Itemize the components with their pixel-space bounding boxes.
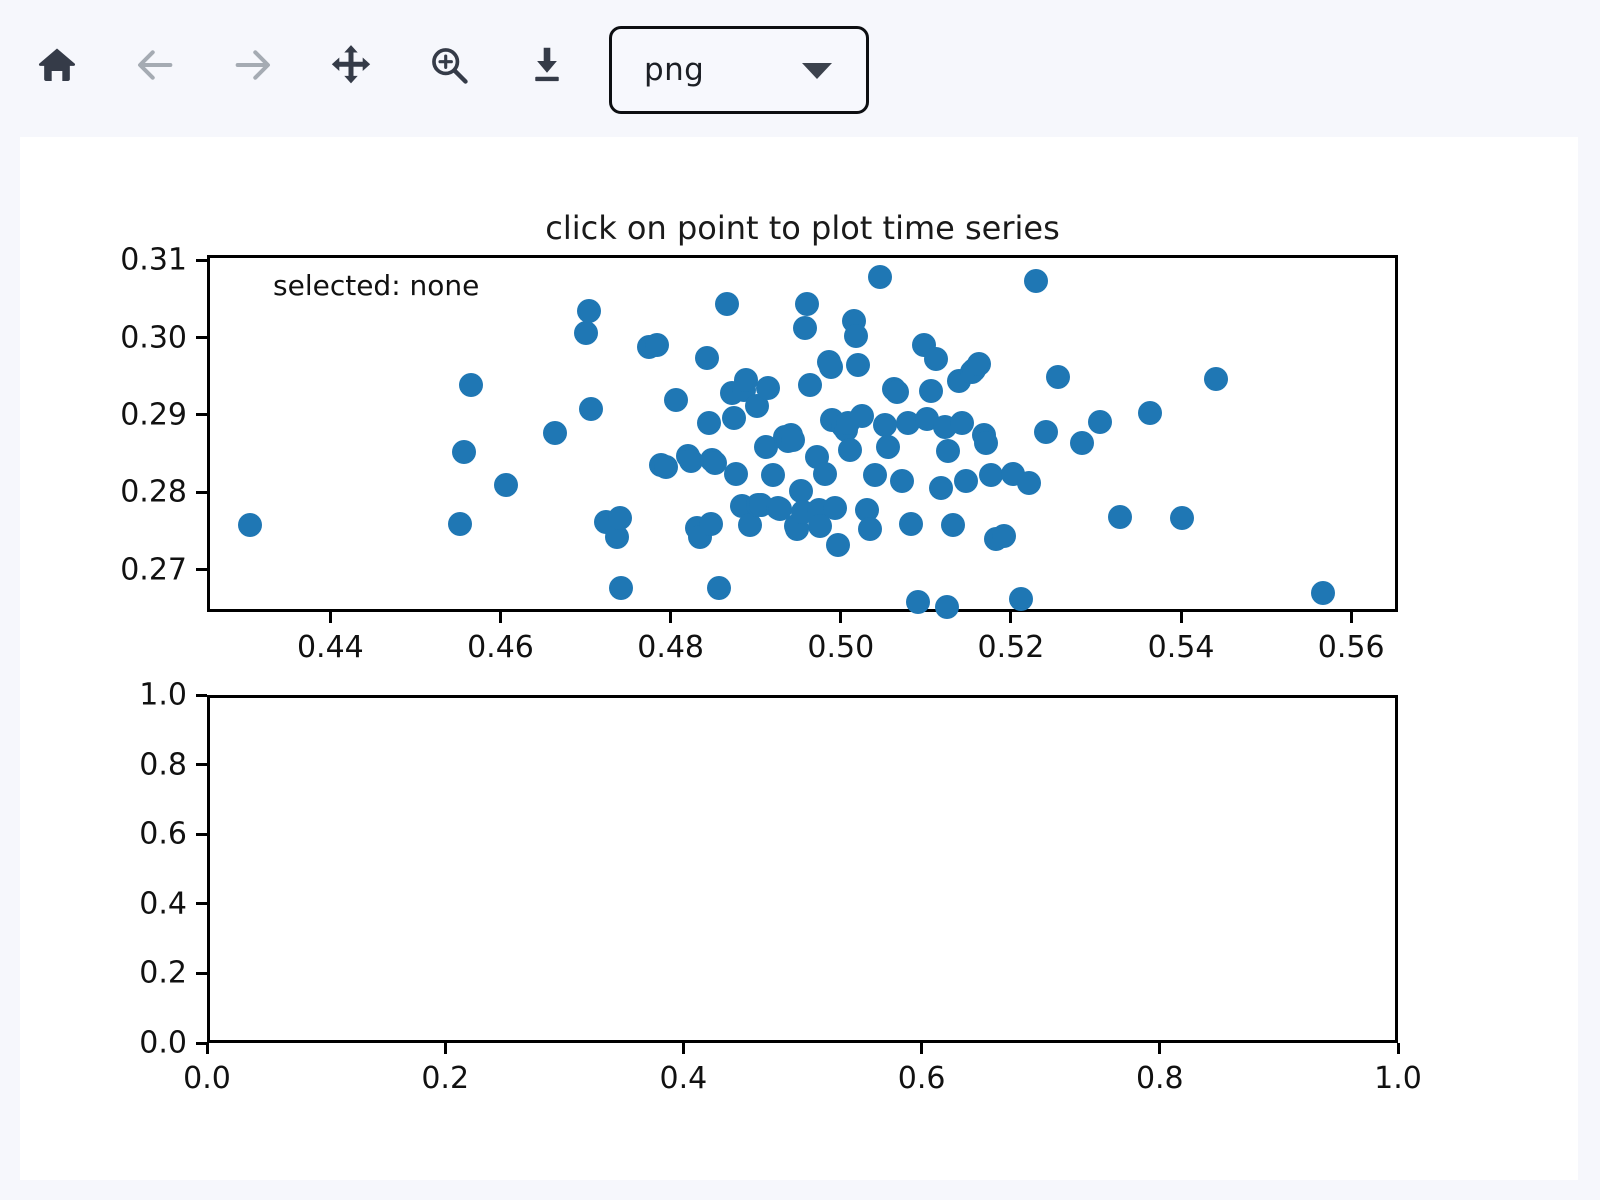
- scatter-point[interactable]: [1088, 410, 1112, 434]
- scatter-point[interactable]: [452, 440, 476, 464]
- scatter-point[interactable]: [715, 292, 739, 316]
- scatter-point[interactable]: [697, 411, 721, 435]
- download-icon: [525, 43, 569, 87]
- x-tick-mark: [1009, 612, 1012, 623]
- scatter-point[interactable]: [858, 517, 882, 541]
- scatter-point[interactable]: [885, 380, 909, 404]
- y-tick-label: 0.29: [22, 397, 187, 432]
- x-tick-mark: [499, 612, 502, 623]
- scatter-point[interactable]: [795, 292, 819, 316]
- pan-button[interactable]: [324, 38, 378, 92]
- y-tick-label: 1.0: [22, 678, 187, 713]
- y-tick-label: 0.8: [22, 747, 187, 782]
- scatter-point[interactable]: [876, 435, 900, 459]
- move-icon: [328, 42, 374, 88]
- y-tick-mark: [196, 972, 207, 975]
- scatter-point[interactable]: [793, 316, 817, 340]
- y-tick-mark: [196, 902, 207, 905]
- y-tick-mark: [196, 491, 207, 494]
- scatter-point[interactable]: [695, 346, 719, 370]
- scatter-point[interactable]: [992, 524, 1016, 548]
- scatter-point[interactable]: [863, 463, 887, 487]
- download-format-select[interactable]: png: [609, 26, 869, 114]
- scatter-point[interactable]: [929, 476, 953, 500]
- x-tick-mark: [682, 1043, 685, 1054]
- scatter-point[interactable]: [724, 462, 748, 486]
- scatter-point[interactable]: [873, 413, 897, 437]
- x-tick-mark: [206, 1043, 209, 1054]
- scatter-point[interactable]: [1024, 269, 1048, 293]
- matplotlib-toolbar: png: [0, 0, 1600, 137]
- x-tick-mark: [1180, 612, 1183, 623]
- scatter-point[interactable]: [1009, 587, 1033, 611]
- y-tick-label: 0.28: [22, 475, 187, 510]
- x-tick-mark: [839, 612, 842, 623]
- x-tick-mark: [1158, 1043, 1161, 1054]
- chevron-down-icon: [802, 63, 832, 79]
- y-tick-label: 0.0: [22, 1026, 187, 1061]
- scatter-point[interactable]: [1046, 365, 1070, 389]
- home-icon: [35, 43, 79, 87]
- scatter-point[interactable]: [459, 373, 483, 397]
- x-tick-label: 0.52: [978, 630, 1045, 665]
- y-tick-mark: [196, 568, 207, 571]
- scatter-point[interactable]: [919, 379, 943, 403]
- y-tick-mark: [196, 413, 207, 416]
- scatter-point[interactable]: [890, 469, 914, 493]
- x-tick-mark: [1350, 612, 1353, 623]
- zoom-button[interactable]: [422, 38, 476, 92]
- scatter-point[interactable]: [1204, 367, 1228, 391]
- download-format-value: png: [644, 29, 704, 111]
- y-tick-label: 0.4: [22, 886, 187, 921]
- scatter-point[interactable]: [722, 406, 746, 430]
- scatter-point[interactable]: [1070, 431, 1094, 455]
- scatter-point[interactable]: [868, 265, 892, 289]
- y-tick-label: 0.2: [22, 956, 187, 991]
- x-tick-label: 0.48: [637, 630, 704, 665]
- scatter-point[interactable]: [826, 533, 850, 557]
- download-button[interactable]: [520, 38, 574, 92]
- x-tick-mark: [444, 1043, 447, 1054]
- y-tick-mark: [196, 833, 207, 836]
- scatter-point[interactable]: [664, 388, 688, 412]
- x-tick-label: 0.6: [898, 1061, 946, 1096]
- x-tick-mark: [669, 612, 672, 623]
- x-tick-label: 0.54: [1148, 630, 1215, 665]
- scatter-point[interactable]: [238, 513, 262, 537]
- figure-canvas[interactable]: click on point to plot time series selec…: [20, 137, 1578, 1180]
- y-tick-label: 0.30: [22, 320, 187, 355]
- y-tick-mark: [196, 336, 207, 339]
- scatter-point[interactable]: [935, 595, 959, 619]
- scatter-point[interactable]: [654, 455, 678, 479]
- arrow-left-icon: [132, 42, 178, 88]
- y-tick-label: 0.6: [22, 817, 187, 852]
- scatter-point[interactable]: [734, 368, 758, 392]
- x-tick-label: 0.44: [297, 630, 364, 665]
- scatter-point[interactable]: [1170, 506, 1194, 530]
- scatter-point[interactable]: [1017, 471, 1041, 495]
- scatter-point[interactable]: [850, 404, 874, 428]
- magnifier-plus-icon: [427, 43, 471, 87]
- timeseries-axes[interactable]: [207, 695, 1398, 1043]
- x-tick-label: 0.46: [467, 630, 534, 665]
- scatter-point[interactable]: [906, 590, 930, 614]
- scatter-point[interactable]: [761, 463, 785, 487]
- y-tick-label: 0.27: [22, 552, 187, 587]
- selection-annotation: selected: none: [273, 269, 479, 302]
- home-button[interactable]: [30, 38, 84, 92]
- scatter-point[interactable]: [579, 397, 603, 421]
- back-button[interactable]: [128, 38, 182, 92]
- forward-button[interactable]: [226, 38, 280, 92]
- x-tick-label: 0.8: [1136, 1061, 1184, 1096]
- figure-widget: png click on point to plot time series s…: [0, 0, 1600, 1200]
- scatter-point[interactable]: [608, 506, 632, 530]
- y-tick-mark: [196, 763, 207, 766]
- y-tick-label: 0.31: [22, 243, 187, 278]
- scatter-point[interactable]: [707, 576, 731, 600]
- x-tick-mark: [329, 612, 332, 623]
- x-tick-label: 1.0: [1374, 1061, 1422, 1096]
- arrow-right-icon: [230, 42, 276, 88]
- x-tick-label: 0.2: [421, 1061, 469, 1096]
- scatter-point[interactable]: [974, 431, 998, 455]
- scatter-point[interactable]: [950, 411, 974, 435]
- scatter-point[interactable]: [543, 421, 567, 445]
- scatter-point[interactable]: [448, 512, 472, 536]
- x-tick-mark: [920, 1043, 923, 1054]
- scatter-point[interactable]: [781, 428, 805, 452]
- scatter-point[interactable]: [813, 462, 837, 486]
- scatter-point[interactable]: [979, 463, 1003, 487]
- page-title: click on point to plot time series: [207, 209, 1398, 247]
- x-tick-label: 0.0: [183, 1061, 231, 1096]
- scatter-point[interactable]: [838, 438, 862, 462]
- scatter-point[interactable]: [1108, 505, 1132, 529]
- x-tick-label: 0.50: [807, 630, 874, 665]
- x-tick-mark: [1397, 1043, 1400, 1054]
- scatter-point[interactable]: [699, 512, 723, 536]
- scatter-point[interactable]: [798, 373, 822, 397]
- scatter-point[interactable]: [819, 355, 843, 379]
- scatter-point[interactable]: [1034, 420, 1058, 444]
- y-tick-mark: [196, 259, 207, 262]
- y-tick-mark: [196, 694, 207, 697]
- x-tick-label: 0.56: [1318, 630, 1385, 665]
- scatter-point[interactable]: [954, 469, 978, 493]
- scatter-point[interactable]: [941, 513, 965, 537]
- x-tick-label: 0.4: [660, 1061, 708, 1096]
- scatter-point[interactable]: [846, 353, 870, 377]
